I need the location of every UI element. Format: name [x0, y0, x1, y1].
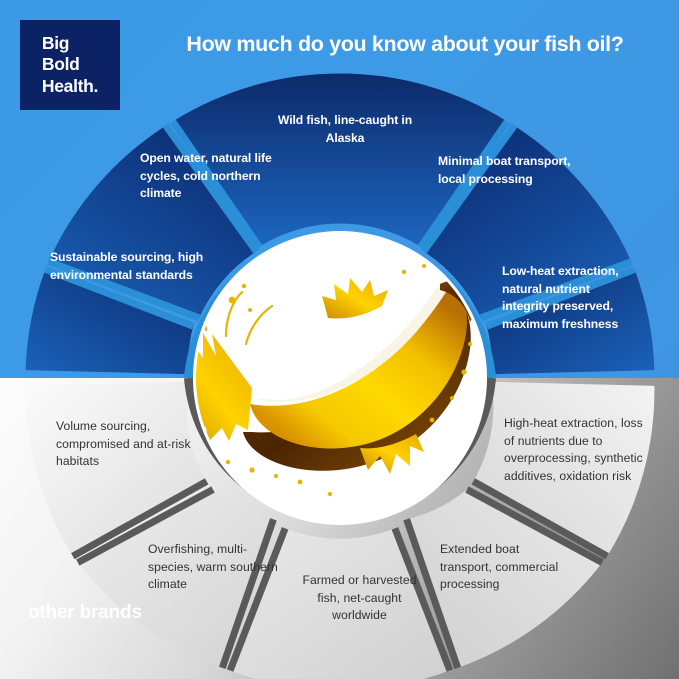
- segment-label-high-heat: High-heat extraction, loss of nutrients …: [504, 415, 654, 485]
- segment-label-minimal-boat: Minimal boat transport, local processing: [438, 153, 573, 188]
- segment-label-volume-sourcing: Volume sourcing, compromised and at-risk…: [56, 418, 196, 471]
- segment-label-wild-fish: Wild fish, line-caught in Alaska: [270, 112, 420, 147]
- brand-logo[interactable]: Big Bold Health.: [20, 20, 120, 110]
- segment-label-sustainable: Sustainable sourcing, high environmental…: [50, 249, 210, 284]
- segment-label-overfishing: Overfishing, multi-species, warm souther…: [148, 541, 288, 594]
- segment-label-extended-boat: Extended boat transport, commercial proc…: [440, 541, 570, 594]
- brand-logo-text: Big Bold Health.: [42, 33, 98, 97]
- segment-label-low-heat: Low-heat extraction, natural nutrient in…: [502, 263, 622, 333]
- segment-label-open-water: Open water, natural life cycles, cold no…: [140, 150, 275, 203]
- segment-label-farmed: Farmed or harvested fish, net-caught wor…: [292, 572, 427, 625]
- page-title: How much do you know about your fish oil…: [140, 32, 670, 57]
- infographic-canvas: Big Bold Health. How much do you know ab…: [0, 0, 679, 679]
- other-brands-label: other brands: [28, 602, 142, 624]
